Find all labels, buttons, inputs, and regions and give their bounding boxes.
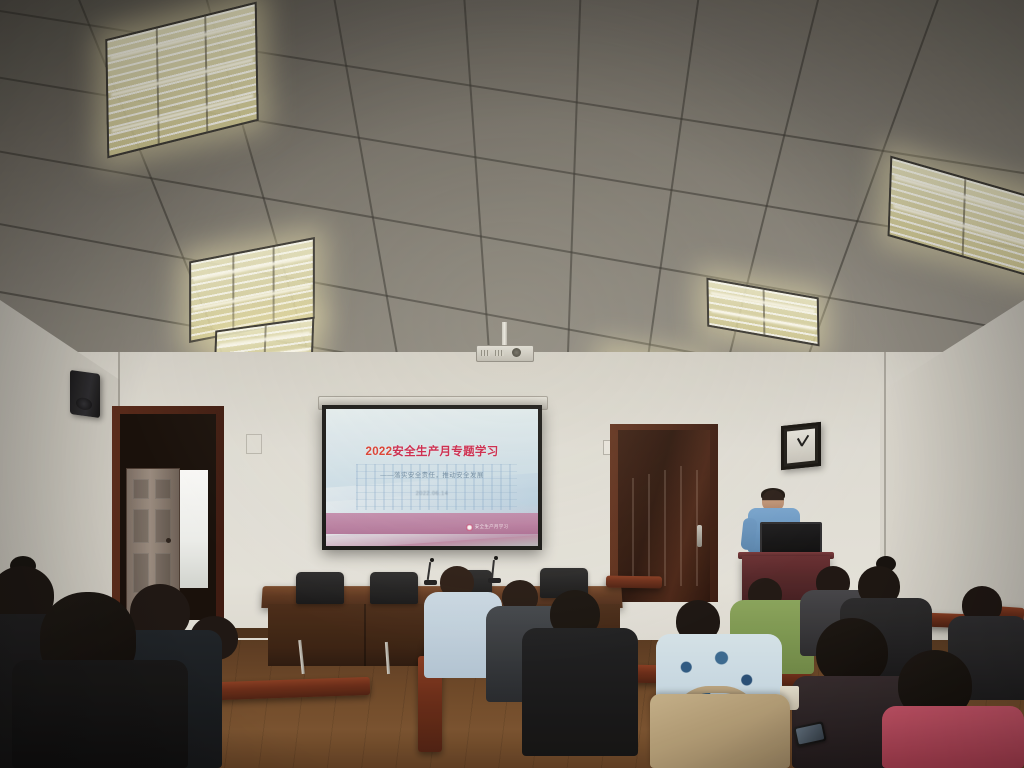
door-left-knob[interactable] — [166, 538, 171, 543]
projection-screen: 2022安全生产月专题学习 ——落实安全责任，推动安全发展 2022.06.14… — [322, 405, 542, 550]
projector-vent — [495, 350, 504, 356]
projector-lens-icon — [512, 348, 521, 357]
microphone-head-icon — [430, 558, 434, 562]
slide-logo-mark — [466, 524, 473, 531]
suspended-ceiling — [0, 0, 1024, 400]
ceiling-lamp-4 — [706, 278, 819, 347]
ceiling-lamp-1 — [105, 2, 258, 159]
table-chair-2[interactable] — [370, 572, 418, 604]
projector-vent — [481, 350, 490, 356]
slide-logo: 安全生产月学习 — [466, 524, 509, 531]
slide-title-text: 安全生产月专题学习 — [392, 446, 498, 458]
phone-screen — [796, 723, 825, 744]
wall-speaker — [70, 370, 100, 418]
clock-face — [787, 429, 815, 464]
clock-minute-hand — [801, 435, 809, 446]
slide-surface: 2022安全生产月专题学习 ——落实安全责任，推动安全发展 2022.06.14… — [326, 409, 538, 546]
doorway-daylight — [178, 470, 208, 588]
microphone-head-icon — [494, 556, 498, 560]
door-right-handle[interactable] — [697, 525, 702, 547]
handbag-beige[interactable] — [650, 694, 790, 768]
slide-title-year: 2022 — [366, 446, 393, 458]
wall-notice-plate — [246, 434, 262, 454]
microphone-base — [488, 578, 501, 583]
slide-subtitle: ——落实安全责任，推动安全发展 — [326, 469, 538, 479]
ceiling-lamp-6 — [888, 156, 1024, 279]
slide-logo-text: 安全生产月学习 — [475, 524, 509, 530]
slide-title: 2022安全生产月专题学习 — [326, 443, 538, 459]
meeting-room-photo: 2022安全生产月专题学习 ——落实安全责任，推动安全发展 2022.06.14… — [0, 0, 1024, 768]
table-chair-1[interactable] — [296, 572, 344, 604]
microphone-base — [424, 580, 437, 585]
wall-clock — [781, 422, 821, 470]
slide-date: 2022.06.14 — [326, 491, 538, 497]
bench-row-back[interactable] — [606, 576, 662, 589]
